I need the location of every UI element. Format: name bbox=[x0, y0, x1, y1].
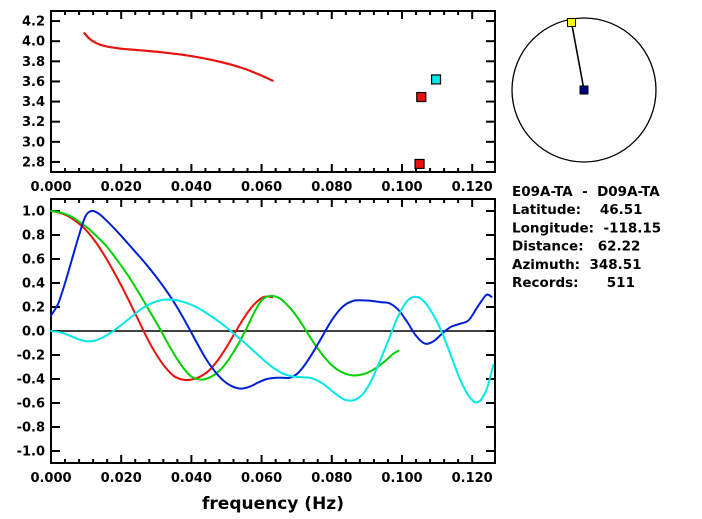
info-title: E09A-TA - D09A-TA bbox=[512, 184, 660, 200]
y-tick-label: -0.6 bbox=[17, 397, 45, 412]
info-row: Distance: 62.22 bbox=[512, 239, 640, 255]
y-tick-label: -0.2 bbox=[17, 349, 45, 364]
x-tick-label: 0.040 bbox=[171, 471, 212, 486]
info-row: Longitude: -118.15 bbox=[512, 220, 661, 236]
x-tick-label: 0.020 bbox=[101, 471, 142, 486]
x-tick-label: 0.100 bbox=[381, 471, 422, 486]
x-tick-label: 0.080 bbox=[311, 180, 352, 195]
info-row: Latitude: 46.51 bbox=[512, 202, 643, 218]
x-tick-label: 0.120 bbox=[452, 180, 493, 195]
x-tick-label: 0.080 bbox=[311, 471, 352, 486]
y-tick-label: 0.4 bbox=[22, 277, 45, 292]
y-tick-label: 3.0 bbox=[22, 135, 45, 150]
x-tick-label: 0.060 bbox=[241, 180, 282, 195]
x-tick-label: 0.000 bbox=[30, 180, 71, 195]
x-tick-label: 0.040 bbox=[171, 180, 212, 195]
y-tick-label: 4.2 bbox=[22, 15, 45, 30]
x-tick-label: 0.000 bbox=[30, 471, 71, 486]
y-tick-label: 0.8 bbox=[22, 229, 45, 244]
x-tick-label: 0.060 bbox=[241, 471, 282, 486]
y-tick-label: 0.6 bbox=[22, 253, 45, 268]
station-marker-icon bbox=[580, 86, 588, 94]
y-tick-label: 4.0 bbox=[22, 35, 45, 50]
y-tick-label: 1.0 bbox=[22, 205, 45, 220]
data-marker bbox=[415, 159, 424, 168]
data-marker bbox=[432, 75, 441, 84]
figure-root: 0.0000.0200.0400.0600.0800.1000.1202.83.… bbox=[0, 0, 702, 519]
x-tick-label: 0.100 bbox=[381, 180, 422, 195]
y-tick-label: -1.0 bbox=[17, 445, 45, 460]
y-tick-label: 2.8 bbox=[22, 155, 45, 170]
y-tick-label: 3.2 bbox=[22, 115, 45, 130]
y-tick-label: -0.8 bbox=[17, 421, 45, 436]
data-marker bbox=[417, 93, 426, 102]
x-tick-label: 0.020 bbox=[101, 180, 142, 195]
x-tick-label: 0.120 bbox=[452, 471, 493, 486]
y-tick-label: 3.4 bbox=[22, 95, 45, 110]
y-tick-label: 0.0 bbox=[22, 325, 45, 340]
y-tick-label: 3.6 bbox=[22, 75, 45, 90]
event-marker-icon bbox=[568, 19, 576, 27]
y-tick-label: 0.2 bbox=[22, 301, 45, 316]
info-row: Records: 511 bbox=[512, 275, 635, 291]
y-tick-label: 3.8 bbox=[22, 55, 45, 70]
info-row: Azimuth: 348.51 bbox=[512, 257, 642, 273]
seismic-dispersion-figure: 0.0000.0200.0400.0600.0800.1000.1202.83.… bbox=[0, 0, 702, 519]
x-axis-title: frequency (Hz) bbox=[202, 494, 344, 514]
y-tick-label: -0.4 bbox=[17, 373, 45, 388]
